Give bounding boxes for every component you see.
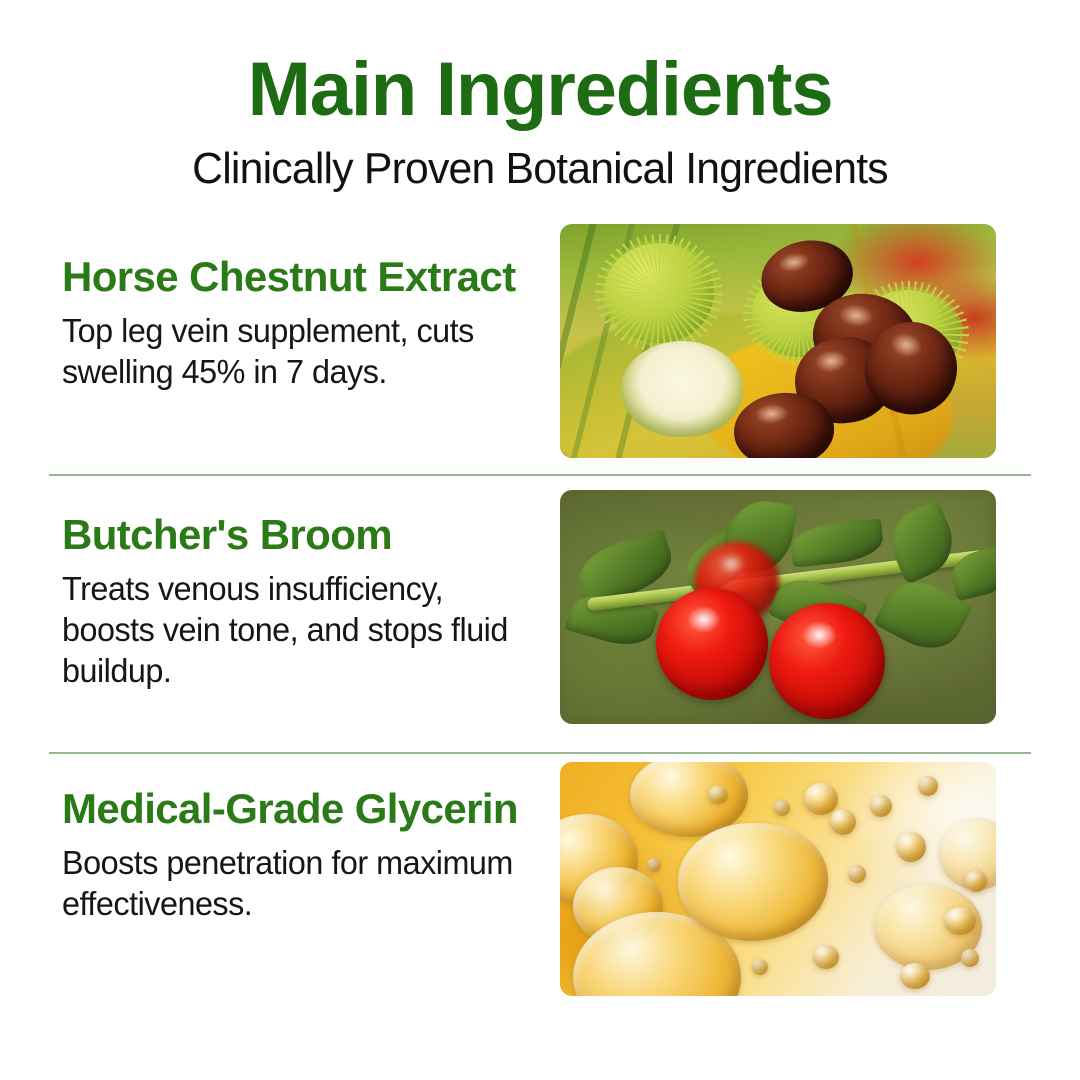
oil-bubble-small [896, 832, 926, 862]
ingredient-row-glycerin: Medical-Grade Glycerin Boosts penetratio… [0, 754, 1080, 1026]
chestnut-husk-open [621, 341, 743, 437]
ingredient-text-block: Medical-Grade Glycerin Boosts penetratio… [0, 754, 560, 924]
page-title: Main Ingredients [0, 52, 1080, 128]
ingredient-image-glycerin [560, 762, 996, 996]
ingredient-text-block: Horse Chestnut Extract Top leg vein supp… [0, 214, 560, 392]
oil-bubble-small [752, 959, 768, 975]
oil-bubble-small [870, 795, 892, 817]
oil-bubble-small [918, 776, 938, 796]
ingredient-description: Top leg vein supplement, cuts swelling 4… [62, 311, 530, 393]
ingredient-image-horse-chestnut [560, 224, 996, 458]
ingredient-row-butchers-broom: Butcher's Broom Treats venous insufficie… [0, 476, 1080, 752]
oil-bubble-small [848, 865, 866, 883]
oil-bubble-small [813, 945, 839, 969]
butchers-broom-photo [560, 490, 996, 724]
ingredients-infographic: Main Ingredients Clinically Proven Botan… [0, 0, 1080, 1080]
ingredient-description: Boosts penetration for maximum effective… [62, 843, 530, 925]
broom-berry [769, 603, 885, 719]
ingredient-description: Treats venous insufficiency, boosts vein… [62, 569, 530, 692]
ingredient-text-block: Butcher's Broom Treats venous insufficie… [0, 476, 560, 691]
header: Main Ingredients Clinically Proven Botan… [0, 0, 1080, 192]
ingredients-list: Horse Chestnut Extract Top leg vein supp… [0, 214, 1080, 1026]
ingredient-name: Horse Chestnut Extract [62, 252, 540, 302]
oil-bubble-small [944, 907, 976, 935]
broom-berry [656, 588, 768, 700]
ingredient-name: Butcher's Broom [62, 510, 540, 560]
ingredient-image-butchers-broom [560, 490, 996, 724]
oil-bubble-small [708, 786, 728, 804]
oil-bubble [678, 823, 828, 941]
chestnut-husk [604, 243, 714, 343]
oil-bubble-small [774, 800, 790, 816]
ingredient-name: Medical-Grade Glycerin [62, 784, 540, 834]
page-subtitle: Clinically Proven Botanical Ingredients [16, 146, 1064, 192]
glycerin-oil-photo [560, 762, 996, 996]
ingredient-row-horse-chestnut: Horse Chestnut Extract Top leg vein supp… [0, 214, 1080, 474]
horse-chestnut-photo [560, 224, 996, 458]
